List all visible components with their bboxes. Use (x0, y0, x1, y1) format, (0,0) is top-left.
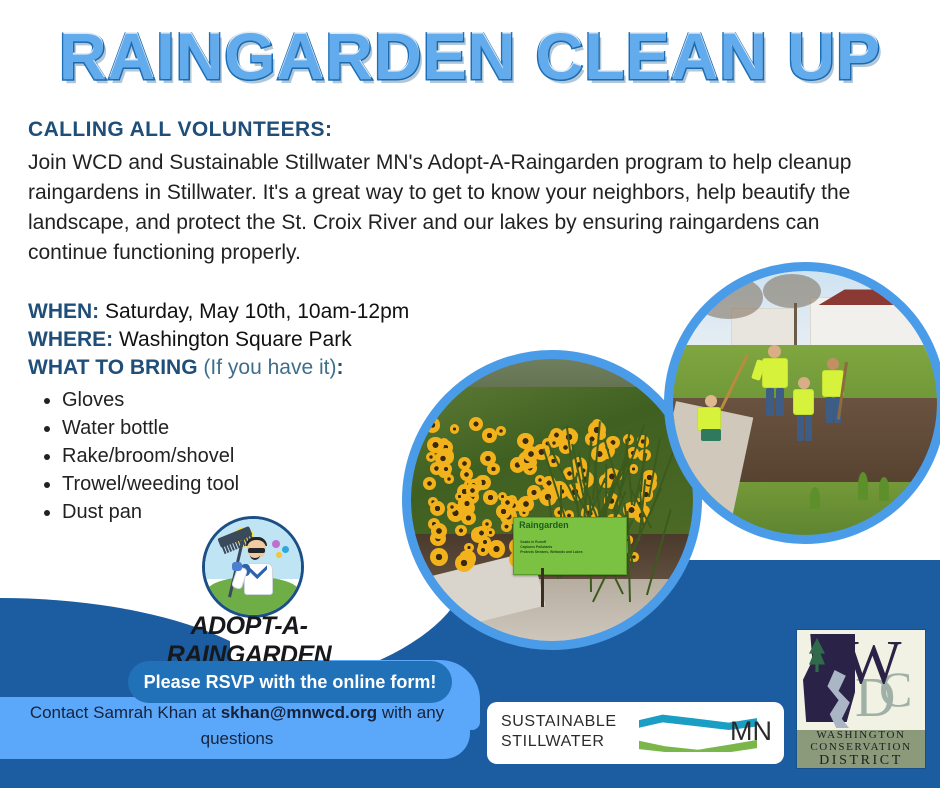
when-value: Saturday, May 10th, 10am-12pm (105, 300, 409, 323)
hero-mask-icon (248, 548, 265, 553)
bring-line: WHAT TO BRING (If you have it): (28, 354, 468, 382)
bring-note: (If you have it) (203, 356, 336, 379)
photo-tree-canopy (694, 276, 763, 318)
where-line: WHERE: Washington Square Park (28, 326, 468, 354)
poster-canvas: RAINGARDEN CLEAN UP CALLING ALL VOLUNTEE… (0, 0, 940, 788)
volunteers-photo (664, 262, 940, 544)
photo-plant (858, 472, 868, 500)
wcd-line2: CONSERVATION (810, 741, 911, 753)
raingarden-sign: Raingarden Soaks in RunoffCaptures Pollu… (513, 517, 628, 575)
rsvp-button[interactable]: Please RSVP with the online form! (128, 661, 452, 703)
photo-tree-trunk (794, 303, 797, 345)
raingarden-sign-post (541, 568, 544, 607)
photo-tree-canopy (763, 274, 821, 308)
photo-plant (879, 477, 889, 501)
where-value: Washington Square Park (119, 328, 352, 351)
raingarden-sign-lines: Soaks in RunoffCaptures PollutantsProtec… (520, 540, 582, 555)
when-label: WHEN: (28, 300, 99, 323)
volunteer-vest (697, 407, 721, 431)
flower-icon (276, 552, 282, 558)
volunteer-vest (762, 358, 788, 388)
sustainable-mn-label: MN (730, 716, 772, 747)
raingarden-photo: Raingarden Soaks in RunoffCaptures Pollu… (402, 350, 702, 650)
contact-email[interactable]: skhan@mnwcd.org (221, 703, 377, 722)
raingarden-sign-title: Raingarden (519, 520, 569, 530)
volunteer-head (705, 395, 717, 407)
sustainable-line1: SUSTAINABLE (501, 712, 617, 732)
page-title: RAINGARDEN CLEAN UP (0, 18, 940, 94)
volunteer-leg (776, 388, 784, 416)
volunteer-leg (826, 397, 833, 423)
volunteer-head (798, 377, 810, 389)
where-label: WHERE: (28, 328, 113, 351)
superhero-badge-icon (202, 516, 304, 618)
wcd-line1: WASHINGTON (816, 729, 905, 741)
rsvp-button-label: Please RSVP with the online form! (144, 672, 437, 693)
volunteers-photo-inner (673, 271, 937, 535)
volunteer-leg (805, 415, 812, 441)
calling-heading: CALLING ALL VOLUNTEERS: (28, 118, 332, 142)
sustainable-line2: STILLWATER (501, 732, 617, 752)
volunteer-vest (793, 389, 814, 415)
volunteer-head (827, 358, 839, 370)
monogram-w: W (843, 632, 902, 694)
volunteer-leg (701, 429, 721, 441)
hero-glove (232, 562, 242, 571)
volunteer-leg (797, 415, 804, 441)
wcd-name-block: WASHINGTON CONSERVATION DISTRICT (797, 730, 925, 768)
when-line: WHEN: Saturday, May 10th, 10am-12pm (28, 298, 468, 326)
sustainable-stillwater-logo: SUSTAINABLE STILLWATER MN (487, 702, 784, 764)
bring-label: WHAT TO BRING (28, 356, 198, 379)
bring-colon: : (336, 356, 343, 379)
volunteer-head (768, 345, 781, 358)
contact-text: Contact Samrah Khan at skhan@mnwcd.org w… (6, 700, 468, 752)
list-item: Water bottle (62, 414, 468, 442)
wcd-line3: DISTRICT (819, 753, 903, 769)
photo-plant (810, 487, 820, 509)
raingarden-photo-inner: Raingarden Soaks in RunoffCaptures Pollu… (411, 359, 693, 641)
intro-paragraph: Join WCD and Sustainable Stillwater MN's… (28, 148, 894, 268)
adopt-a-raingarden-logo: ADOPT-A-RAINGARDEN (124, 516, 374, 636)
flower-icon (282, 546, 289, 553)
volunteer-leg (766, 388, 774, 416)
contact-prefix: Contact Samrah Khan at (30, 703, 221, 722)
list-item: Gloves (62, 386, 468, 414)
wcd-monogram-art: D C W (797, 630, 925, 730)
sustainable-stillwater-text: SUSTAINABLE STILLWATER (501, 712, 617, 752)
washington-conservation-district-logo: D C W WASHINGTON CONSERVATION DISTRICT (797, 630, 925, 768)
